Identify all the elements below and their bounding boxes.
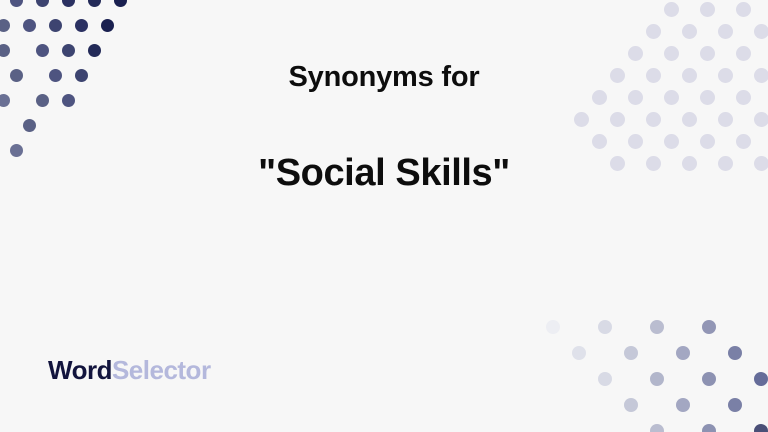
decorative-dot (650, 320, 664, 334)
decorative-dot (49, 19, 62, 32)
decorative-dot (728, 346, 742, 360)
brand-logo-secondary: Selector (112, 355, 211, 385)
decorative-dot (676, 398, 690, 412)
decorative-dot (0, 44, 10, 57)
decorative-dot (546, 320, 560, 334)
decorative-dot (682, 24, 697, 39)
decorative-dot (88, 0, 101, 7)
decorative-dot (650, 424, 664, 432)
headline-block: Synonyms for "Social Skills" (0, 60, 768, 196)
decorative-dot (700, 46, 715, 61)
decorative-dot (572, 346, 586, 360)
dot-pattern-bottom-right-icon (538, 312, 768, 432)
decorative-dot (736, 2, 751, 17)
decorative-dot (664, 46, 679, 61)
decorative-dot (10, 0, 23, 7)
decorative-dot (62, 0, 75, 7)
decorative-dot (88, 44, 101, 57)
decorative-dot (62, 44, 75, 57)
decorative-dot (718, 24, 733, 39)
decorative-dot (676, 346, 690, 360)
decorative-dot (700, 2, 715, 17)
decorative-dot (624, 346, 638, 360)
decorative-dot (624, 398, 638, 412)
decorative-dot (664, 2, 679, 17)
decorative-dot (0, 19, 10, 32)
decorative-dot (36, 44, 49, 57)
brand-logo-primary: Word (48, 355, 112, 385)
brand-logo[interactable]: WordSelector (48, 355, 211, 386)
decorative-dot (36, 0, 49, 7)
decorative-dot (598, 320, 612, 334)
decorative-dot (736, 46, 751, 61)
synonyms-card: Synonyms for "Social Skills" WordSelecto… (0, 0, 768, 432)
decorative-dot (23, 19, 36, 32)
decorative-dot (114, 0, 127, 7)
decorative-dot (650, 372, 664, 386)
decorative-dot (754, 372, 768, 386)
decorative-dot (75, 19, 88, 32)
decorative-dot (646, 24, 661, 39)
decorative-dot (702, 320, 716, 334)
decorative-dot (754, 424, 768, 432)
decorative-dot (702, 424, 716, 432)
decorative-dot (754, 24, 768, 39)
page-title: Synonyms for (90, 60, 678, 95)
decorative-dot (728, 398, 742, 412)
decorative-dot (702, 372, 716, 386)
decorative-dot (101, 19, 114, 32)
decorative-dot (628, 46, 643, 61)
decorative-dot (598, 372, 612, 386)
page-subtitle-term: "Social Skills" (90, 151, 678, 197)
